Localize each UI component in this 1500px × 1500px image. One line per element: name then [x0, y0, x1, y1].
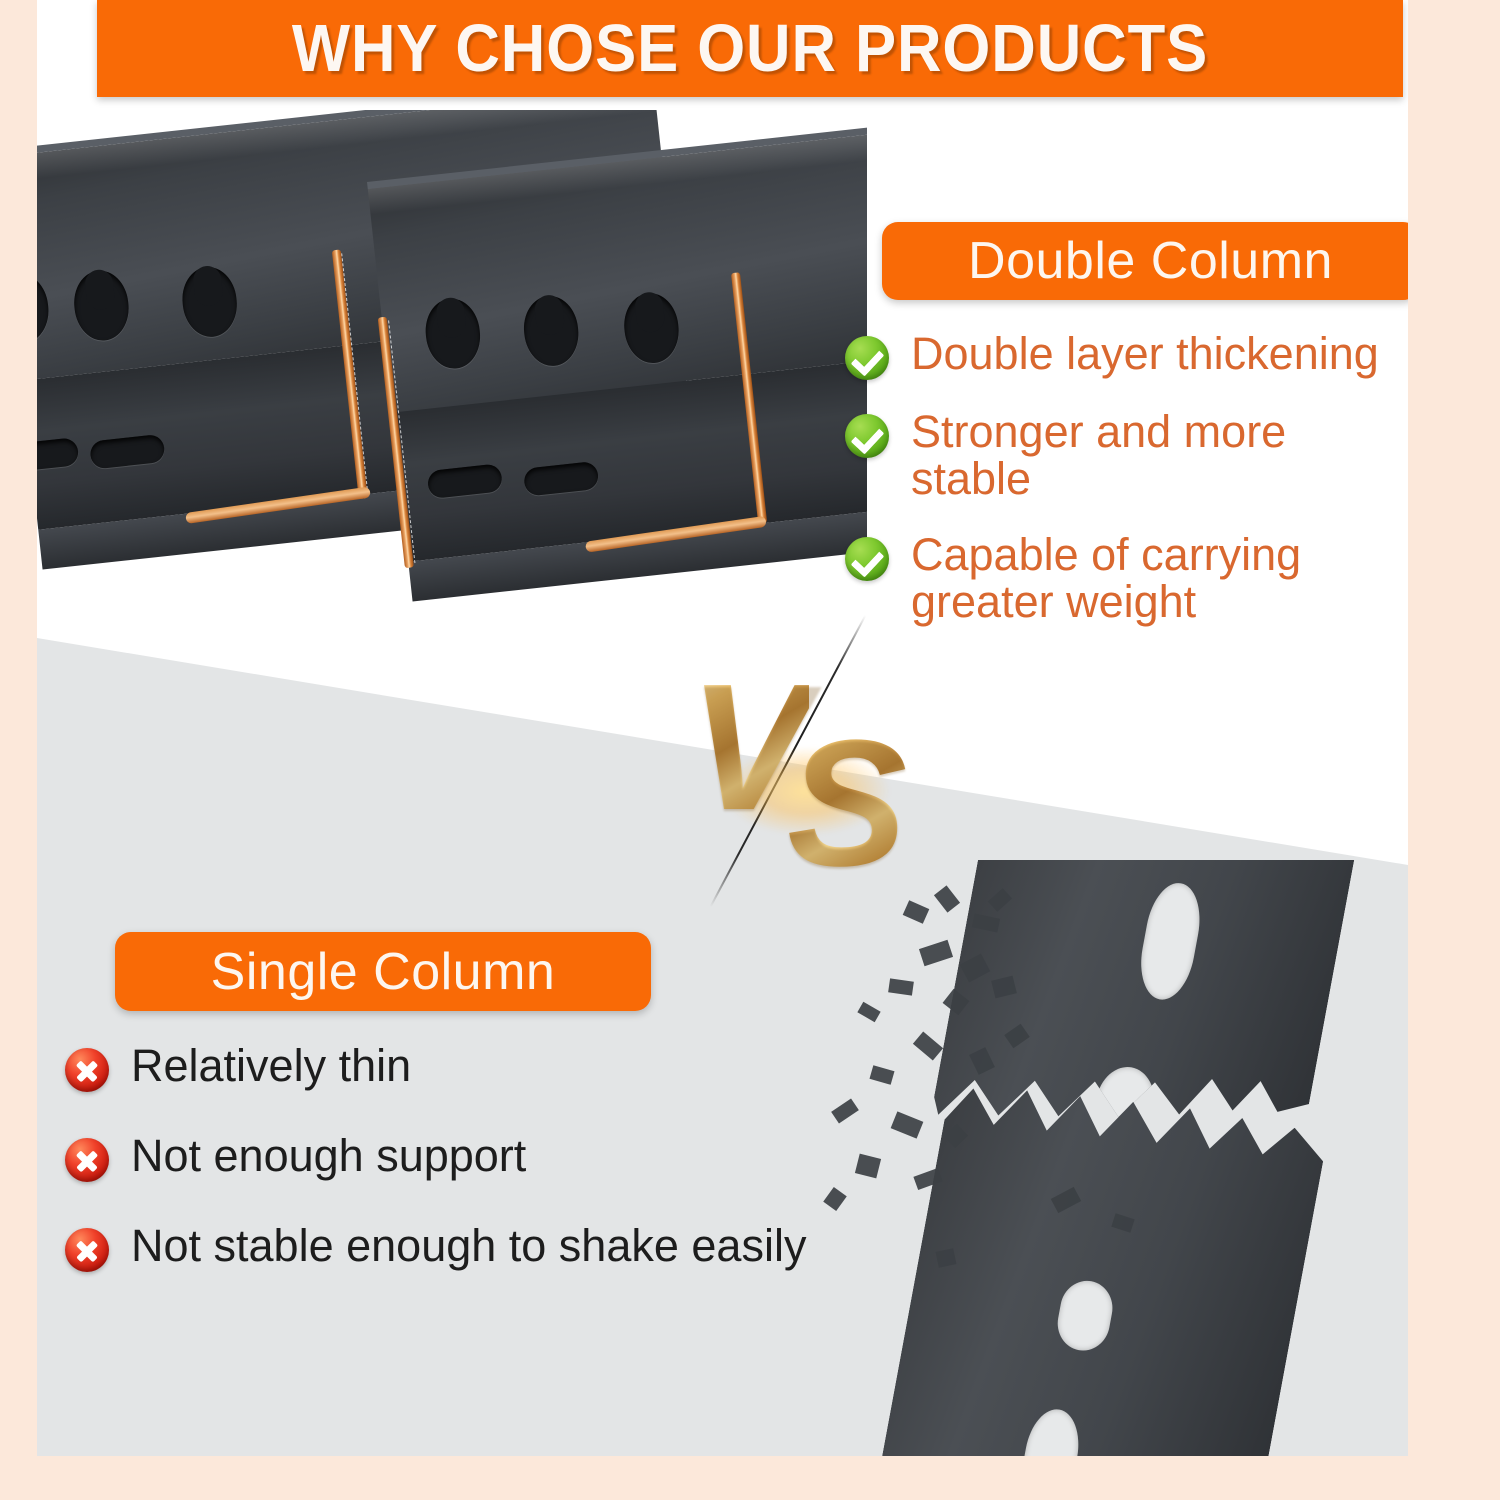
keyhole-slot: [1053, 1277, 1117, 1355]
keyhole-slot: [422, 296, 483, 371]
list-item-label-line1: Capable of carrying: [911, 529, 1301, 580]
list-item-label: Stronger and more stable: [911, 408, 1405, 503]
list-item: Double layer thickening: [845, 330, 1405, 380]
double-column-badge: Double Column: [882, 222, 1408, 300]
shard: [891, 1111, 924, 1138]
content-canvas: V S WHY CHOSE OUR PRODUCTS Double Column…: [37, 0, 1408, 1456]
shard: [888, 978, 914, 995]
check-circle-icon: [845, 537, 889, 581]
versus-graphic: V S: [637, 636, 967, 886]
vs-letter-s: S: [787, 714, 907, 894]
oval-slot: [523, 461, 600, 497]
list-item-label: Not enough support: [131, 1132, 526, 1179]
cross-circle-icon: [65, 1048, 109, 1092]
single-column-drawback-list: Relatively thin Not enough support Not s…: [65, 1042, 895, 1312]
list-item-label: Capable of carrying greater weight: [911, 531, 1301, 626]
oval-slot: [89, 434, 166, 470]
single-column-badge: Single Column: [115, 932, 651, 1011]
keyhole-slot: [179, 264, 240, 339]
infographic-page: V S WHY CHOSE OUR PRODUCTS Double Column…: [0, 0, 1500, 1500]
double-column-benefit-list: Double layer thickening Stronger and mor…: [845, 330, 1405, 653]
oval-slot: [427, 463, 504, 499]
list-item: Relatively thin: [65, 1042, 895, 1092]
list-item: Not enough support: [65, 1132, 895, 1182]
steel-beam-front: [367, 110, 867, 609]
list-item-label: Double layer thickening: [911, 330, 1379, 377]
shard: [857, 1002, 880, 1022]
check-circle-icon: [845, 414, 889, 458]
cross-circle-icon: [65, 1228, 109, 1272]
list-item: Capable of carrying greater weight: [845, 531, 1405, 626]
cross-circle-icon: [65, 1138, 109, 1182]
page-title: WHY CHOSE OUR PRODUCTS: [292, 10, 1208, 87]
oval-slot: [37, 437, 79, 473]
keyhole-slot: [621, 290, 682, 365]
header-banner: WHY CHOSE OUR PRODUCTS: [97, 0, 1403, 97]
keyhole-slot: [1134, 879, 1207, 1005]
keyhole-slot: [1014, 1405, 1085, 1456]
list-item-label: Relatively thin: [131, 1042, 411, 1089]
list-item-label-line2: greater weight: [911, 578, 1301, 625]
double-column-product-photo: [37, 110, 867, 630]
shard: [913, 1032, 943, 1061]
keyhole-slot: [71, 268, 132, 343]
shard: [919, 940, 953, 966]
keyhole-slot: [37, 271, 52, 346]
check-circle-icon: [845, 336, 889, 380]
keyhole-slot: [521, 293, 582, 368]
shard: [934, 885, 960, 912]
list-item: Not stable enough to shake easily: [65, 1222, 895, 1272]
list-item: Stronger and more stable: [845, 408, 1405, 503]
list-item-label: Not stable enough to shake easily: [131, 1222, 806, 1269]
